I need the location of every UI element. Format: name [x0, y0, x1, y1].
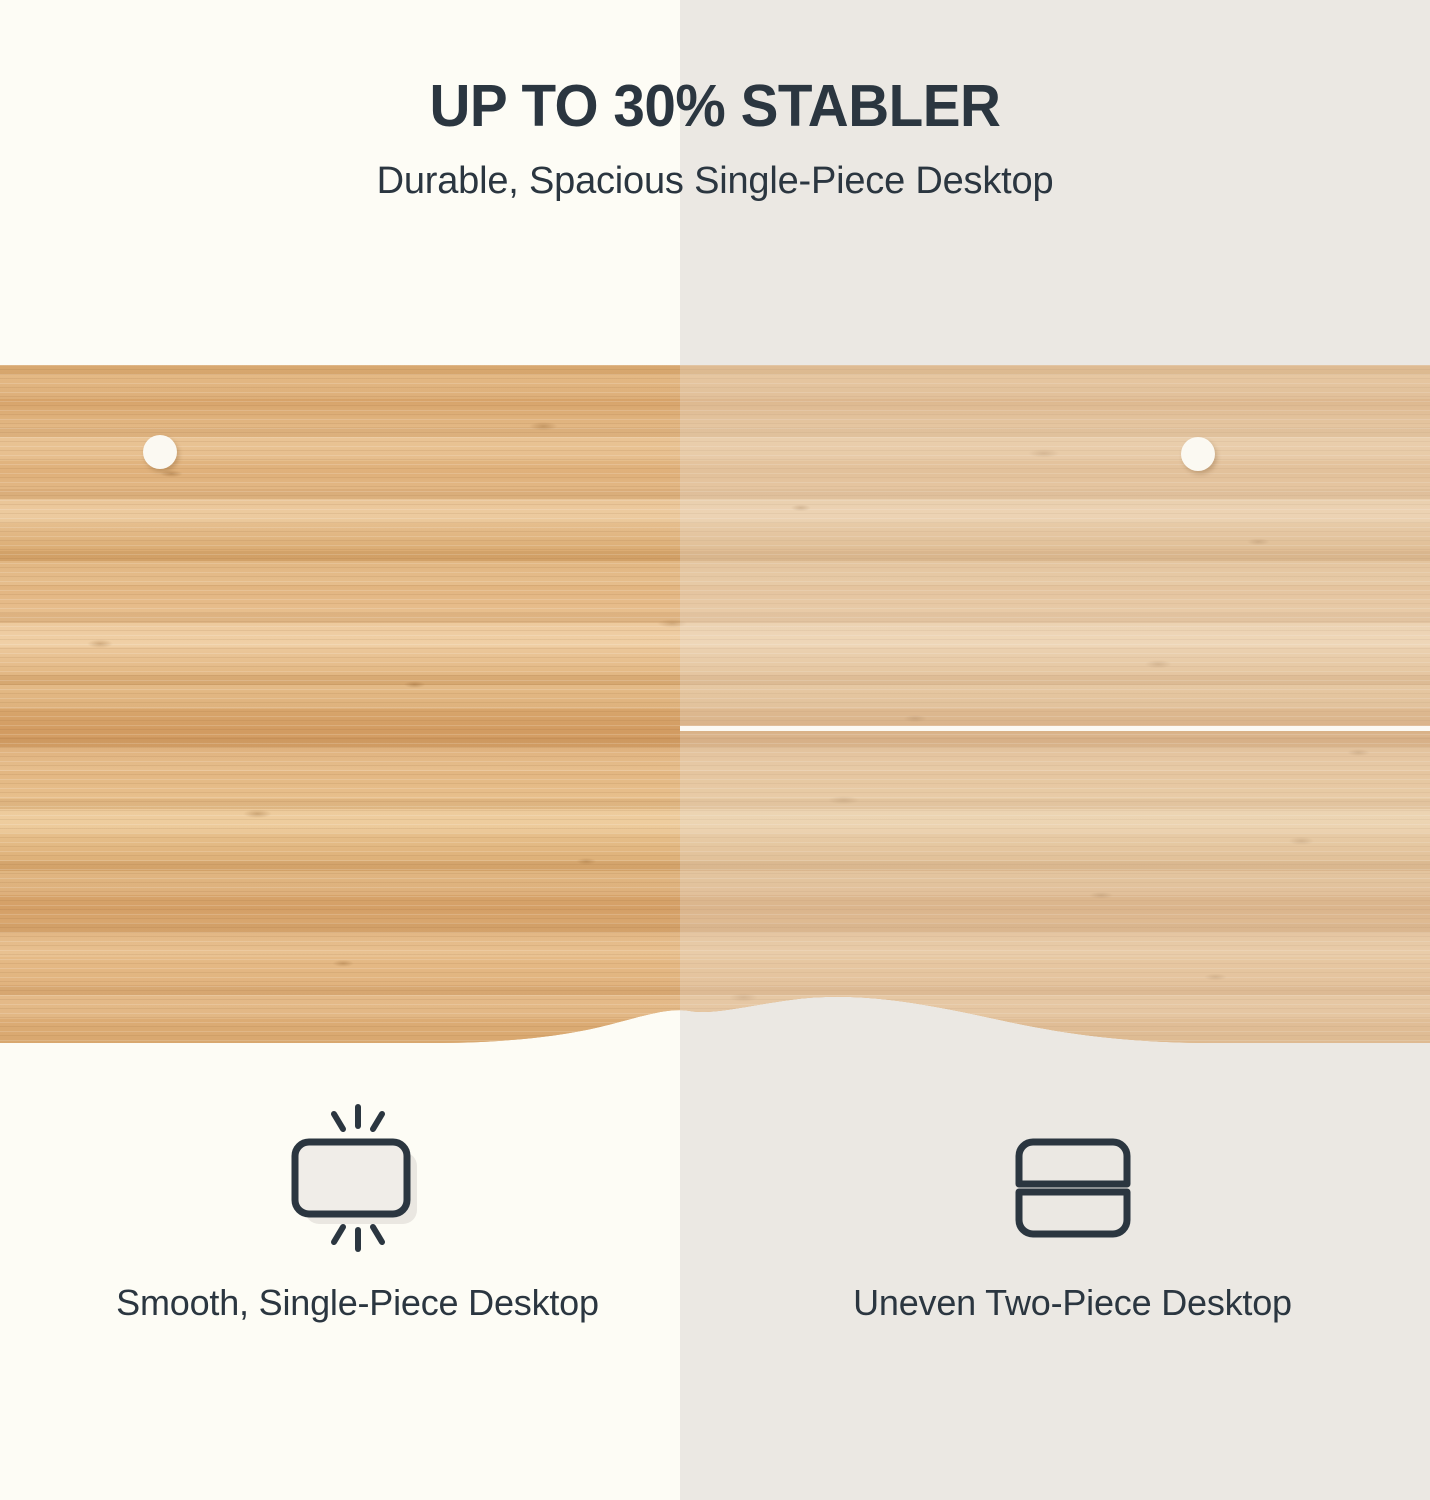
- product-image: [0, 365, 1430, 1045]
- infographic-root: UP TO 30% STABLER Durable, Spacious Sing…: [0, 0, 1430, 1500]
- single-piece-desktop-icon: [283, 1090, 433, 1265]
- comparison-caption-single-piece: Smooth, Single-Piece Desktop: [116, 1265, 599, 1328]
- comparison-column-two-piece: Uneven Two-Piece Desktop: [715, 1090, 1430, 1430]
- grommet-right: [1181, 437, 1215, 471]
- desktop-seam-line: [680, 726, 1430, 731]
- header: UP TO 30% STABLER Durable, Spacious Sing…: [0, 0, 1430, 205]
- page-subtitle: Durable, Spacious Single-Piece Desktop: [0, 137, 1430, 205]
- two-piece-desktop-icon: [998, 1090, 1148, 1265]
- comparison-column-single-piece: Smooth, Single-Piece Desktop: [0, 1090, 715, 1430]
- right-half-grey-wash: [680, 365, 1430, 1045]
- grommet-left: [143, 435, 177, 469]
- desktop-surface: [0, 365, 1430, 1045]
- comparison-row: Smooth, Single-Piece Desktop Uneven Two-…: [0, 1090, 1430, 1430]
- comparison-caption-two-piece: Uneven Two-Piece Desktop: [853, 1265, 1292, 1328]
- page-title: UP TO 30% STABLER: [29, 0, 1402, 137]
